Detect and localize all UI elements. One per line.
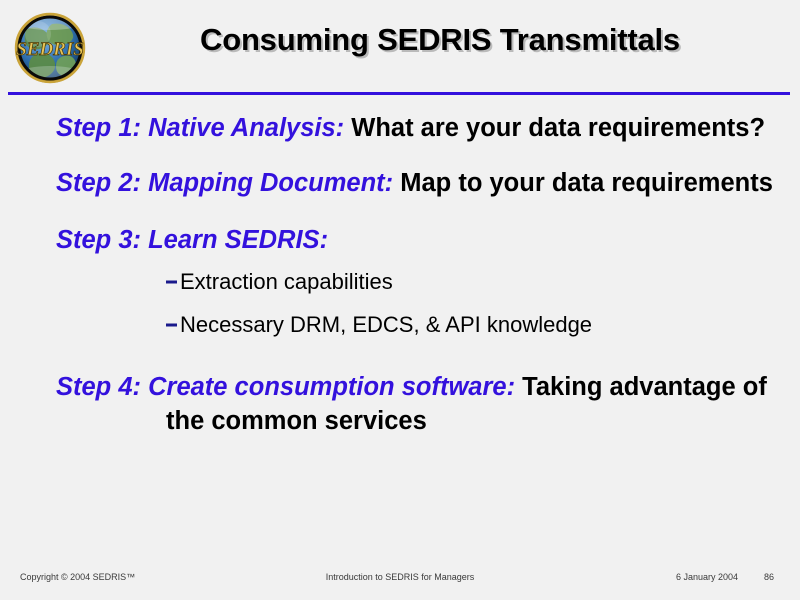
step-label-1: Step 1: Native Analysis: [56,114,344,142]
sub-item-label: Extraction capabilities [180,269,393,294]
spacer [0,145,800,167]
spacer [0,200,800,224]
step-label-4: Step 4: Create consumption software: [56,373,515,401]
sub-item-label: Necessary DRM, EDCS, & API knowledge [180,312,592,337]
step-label-2: Step 2: Mapping Document: [56,169,393,197]
step-text-1: What are your data requirements? [344,114,765,142]
header-divider [8,92,790,95]
slide-footer: Copyright © 2004 SEDRIS™ Introduction to… [0,554,800,600]
sedris-globe-logo: SEDRIS [8,10,92,86]
slide-header: SEDRIS Consuming SEDRIS Transmittals [0,0,800,96]
page-title: Consuming SEDRIS Transmittals [110,22,770,58]
slide-content: Step 1: Native Analysis: What are your d… [0,112,800,552]
step-item-3: Step 3: Learn SEDRIS: [0,224,800,257]
list-item: Extraction capabilities [0,267,800,296]
spacer [0,353,800,371]
logo-wordmark: SEDRIS [16,39,84,60]
dash-bullet-icon [166,280,177,283]
footer-page-number: 86 [764,572,774,582]
step-label-3: Step 3: Learn SEDRIS: [56,226,328,254]
step-text-2: Map to your data requirements [393,169,773,197]
footer-date: 6 January 2004 [676,572,738,582]
step-item-4: Step 4: Create consumption software: Tak… [0,371,800,437]
step-item-2: Step 2: Mapping Document: Map to your da… [0,167,800,200]
step-item-1: Step 1: Native Analysis: What are your d… [0,112,800,145]
list-item: Necessary DRM, EDCS, & API knowledge [0,310,800,339]
dash-bullet-icon [166,323,177,326]
step-3-sub-list: Extraction capabilities Necessary DRM, E… [0,267,800,339]
